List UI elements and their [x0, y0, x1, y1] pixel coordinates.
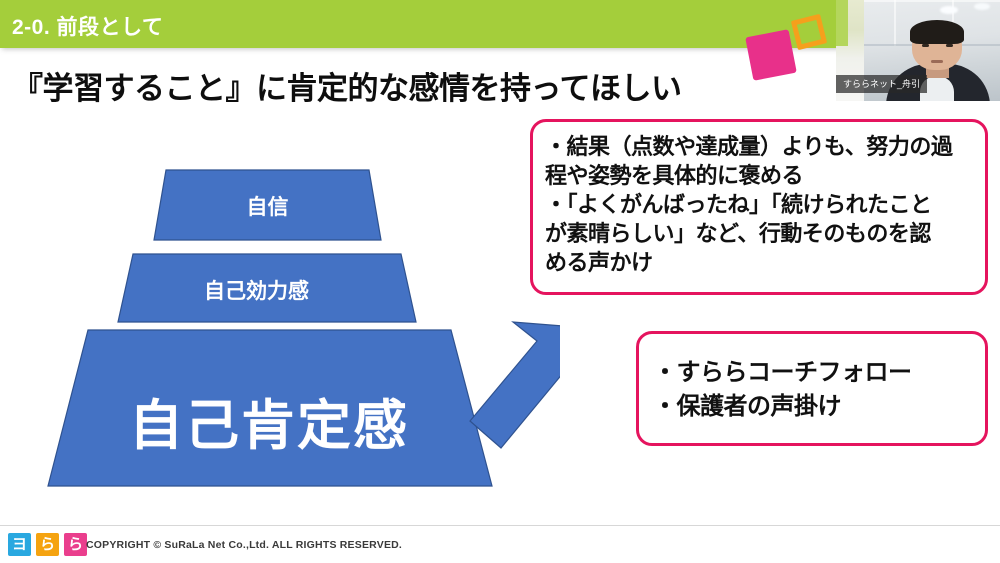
- callout-support-line-1: ・すららコーチフォロー: [653, 356, 977, 390]
- webcam-person-eye-left: [922, 44, 929, 47]
- direction-arrow-icon: [470, 322, 560, 448]
- webcam-person-hair: [910, 20, 964, 44]
- callout-praise-line-3: ・「よくがんばったね」「続けられたこと: [545, 190, 977, 219]
- callout-support-actions: ・すららコーチフォロー ・保護者の声掛け: [636, 331, 988, 446]
- brand-logo: ヨ ら ら: [8, 533, 87, 556]
- pyramid-level-base-shape: [48, 330, 492, 486]
- webcam-ceiling-light-1: [940, 6, 958, 14]
- logo-square-pink-icon: ら: [64, 533, 87, 556]
- logo-glyph-orange: ら: [36, 533, 59, 556]
- presentation-slide: 2-0. 前段として 『学習すること』に肯定的な感情を持ってほしい すららネット…: [0, 0, 1000, 563]
- webcam-video-tile[interactable]: すららネット_舟引: [836, 0, 1000, 101]
- callout-praise-line-2: 程や姿勢を具体的に褒める: [545, 161, 977, 190]
- logo-square-orange-icon: ら: [36, 533, 59, 556]
- logo-square-blue-icon: ヨ: [8, 533, 31, 556]
- pyramid-level-middle-shape: [118, 254, 416, 322]
- webcam-participant-name: すららネット_舟引: [836, 75, 927, 93]
- pyramid-level-top-shape: [154, 170, 381, 240]
- webcam-person-eye-right: [946, 44, 953, 47]
- callout-praise-line-1: ・結果（点数や達成量）よりも、努力の過: [545, 132, 977, 161]
- logo-glyph-pink: ら: [64, 533, 87, 556]
- pyramid-svg: [0, 0, 560, 520]
- self-esteem-pyramid-diagram: 自信 自己効力感 自己肯定感: [0, 0, 560, 520]
- webcam-slide-edge: [836, 0, 848, 46]
- logo-glyph-blue: ヨ: [8, 533, 31, 556]
- callout-praise-text: ・結果（点数や達成量）よりも、努力の過 程や姿勢を具体的に褒める ・「よくがんば…: [545, 132, 977, 277]
- callout-praise-guidance: ・結果（点数や達成量）よりも、努力の過 程や姿勢を具体的に褒める ・「よくがんば…: [530, 119, 988, 295]
- callout-support-text: ・すららコーチフォロー ・保護者の声掛け: [653, 356, 977, 424]
- webcam-wall-line-1: [894, 0, 896, 46]
- decorative-square-filled-icon: [745, 29, 797, 81]
- callout-praise-line-5: める声かけ: [545, 248, 977, 277]
- callout-praise-line-4: が素晴らしい」など、行動そのものを認: [545, 219, 977, 248]
- callout-support-line-2: ・保護者の声掛け: [653, 390, 977, 424]
- webcam-ceiling-light-2: [974, 3, 990, 10]
- webcam-person-mouth: [931, 60, 943, 63]
- copyright-text: COPYRIGHT © SuRaLa Net Co.,Ltd. ALL RIGH…: [86, 539, 402, 551]
- slide-footer: ヨ ら ら COPYRIGHT © SuRaLa Net Co.,Ltd. AL…: [0, 526, 1000, 563]
